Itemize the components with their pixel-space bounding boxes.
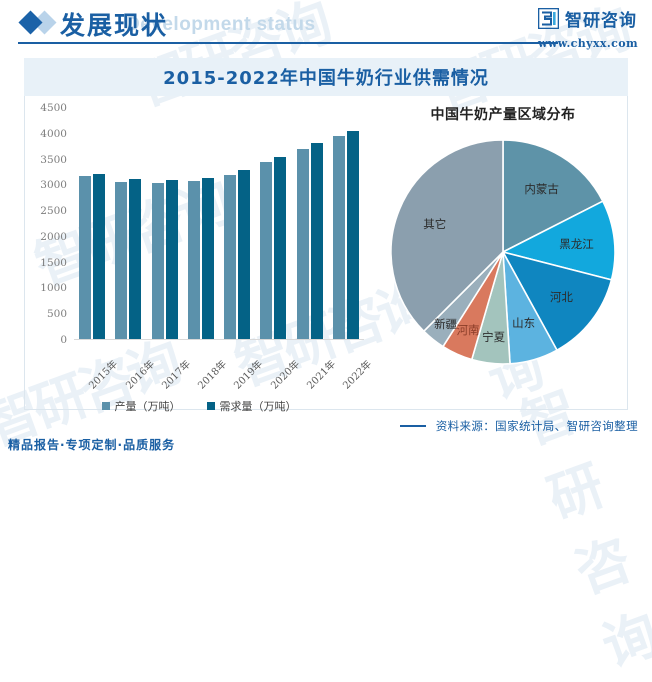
bar-demand[interactable] bbox=[166, 180, 178, 339]
bar-group bbox=[115, 107, 141, 339]
bar-chart-plot-area: 050010001500200025003000350040004500 bbox=[74, 108, 364, 340]
y-axis-tick: 500 bbox=[47, 308, 67, 320]
x-axis-label-wrap: 2015年 bbox=[75, 346, 109, 390]
footer-tagline: 精品报告·专项定制·品质服务 bbox=[8, 436, 175, 453]
bar-demand[interactable] bbox=[274, 157, 286, 339]
pie-chart: 中国牛奶产量区域分布 内蒙古黑龙江河北山东宁夏河南新疆其它 bbox=[378, 100, 628, 400]
pie-chart-canvas: 内蒙古黑龙江河北山东宁夏河南新疆其它 bbox=[389, 138, 617, 366]
header-divider bbox=[18, 42, 546, 44]
y-axis-tick: 2500 bbox=[40, 205, 67, 217]
bar-series-container bbox=[74, 107, 364, 339]
page-title: 发展现状 bbox=[60, 6, 168, 42]
pie-slice-label: 黑龙江 bbox=[559, 236, 594, 252]
bar-production[interactable] bbox=[188, 181, 200, 339]
source-text: 资料来源：国家统计局、智研咨询整理 bbox=[436, 418, 638, 434]
y-axis-tick: 1500 bbox=[40, 257, 67, 269]
bar-demand[interactable] bbox=[347, 131, 359, 339]
bar-production[interactable] bbox=[115, 182, 127, 339]
bar-demand[interactable] bbox=[129, 179, 141, 339]
pie-slice-label: 新疆 bbox=[434, 316, 457, 332]
bar-production[interactable] bbox=[152, 183, 164, 339]
y-axis-tick: 4500 bbox=[40, 102, 67, 114]
bar-group bbox=[297, 107, 323, 339]
legend-item[interactable]: 产量（万吨） bbox=[102, 398, 181, 414]
y-axis-tick: 0 bbox=[60, 334, 67, 346]
legend-label: 需求量（万吨） bbox=[220, 398, 297, 414]
pie-slice-label: 河北 bbox=[550, 289, 573, 305]
bar-production[interactable] bbox=[333, 136, 345, 339]
bar-group bbox=[79, 107, 105, 339]
bar-chart: 050010001500200025003000350040004500 201… bbox=[24, 100, 374, 410]
legend-swatch bbox=[207, 402, 215, 410]
bar-demand[interactable] bbox=[93, 174, 105, 339]
brand-block: 智研咨询 www.chyxx.com bbox=[538, 6, 638, 50]
y-axis-tick: 3500 bbox=[40, 154, 67, 166]
bar-production[interactable] bbox=[260, 162, 272, 339]
bar-demand[interactable] bbox=[238, 170, 250, 339]
chart-title-band: 2015-2022年中国牛奶行业供需情况 bbox=[24, 58, 628, 96]
bar-production[interactable] bbox=[297, 149, 309, 339]
bar-group bbox=[188, 107, 214, 339]
y-axis-tick: 4000 bbox=[40, 128, 67, 140]
bar-demand[interactable] bbox=[202, 178, 214, 339]
x-axis-labels: 2015年2016年2017年2018年2019年2020年2021年2022年 bbox=[74, 346, 364, 390]
pie-slice-label: 河南 bbox=[456, 322, 479, 338]
chart-title: 2015-2022年中国牛奶行业供需情况 bbox=[163, 64, 489, 90]
brand-name: 智研咨询 bbox=[565, 6, 637, 31]
legend-swatch bbox=[102, 402, 110, 410]
brand-url: www.chyxx.com bbox=[538, 37, 638, 50]
legend-item[interactable]: 需求量（万吨） bbox=[207, 398, 297, 414]
bar-group bbox=[260, 107, 286, 339]
y-axis-tick: 1000 bbox=[40, 282, 67, 294]
zhiyan-logo-icon bbox=[538, 8, 559, 29]
bar-demand[interactable] bbox=[311, 143, 323, 339]
legend-label: 产量（万吨） bbox=[115, 398, 181, 414]
bar-production[interactable] bbox=[79, 176, 91, 339]
source-note: 资料来源：国家统计局、智研咨询整理 bbox=[400, 418, 638, 434]
pie-chart-title: 中国牛奶产量区域分布 bbox=[378, 104, 628, 124]
y-axis-tick: 2000 bbox=[40, 231, 67, 243]
bar-group bbox=[224, 107, 250, 339]
bar-group bbox=[152, 107, 178, 339]
y-axis-tick: 3000 bbox=[40, 179, 67, 191]
x-axis-line bbox=[74, 339, 364, 340]
bar-production[interactable] bbox=[224, 175, 236, 339]
source-rule bbox=[400, 425, 426, 427]
bar-group bbox=[333, 107, 359, 339]
pie-slice-label: 内蒙古 bbox=[524, 181, 559, 197]
pie-slice-label: 宁夏 bbox=[482, 329, 505, 345]
pie-slice-label: 其它 bbox=[423, 216, 446, 232]
bar-chart-legend: 产量（万吨）需求量（万吨） bbox=[24, 398, 374, 414]
pie-slice-label: 山东 bbox=[512, 315, 535, 331]
